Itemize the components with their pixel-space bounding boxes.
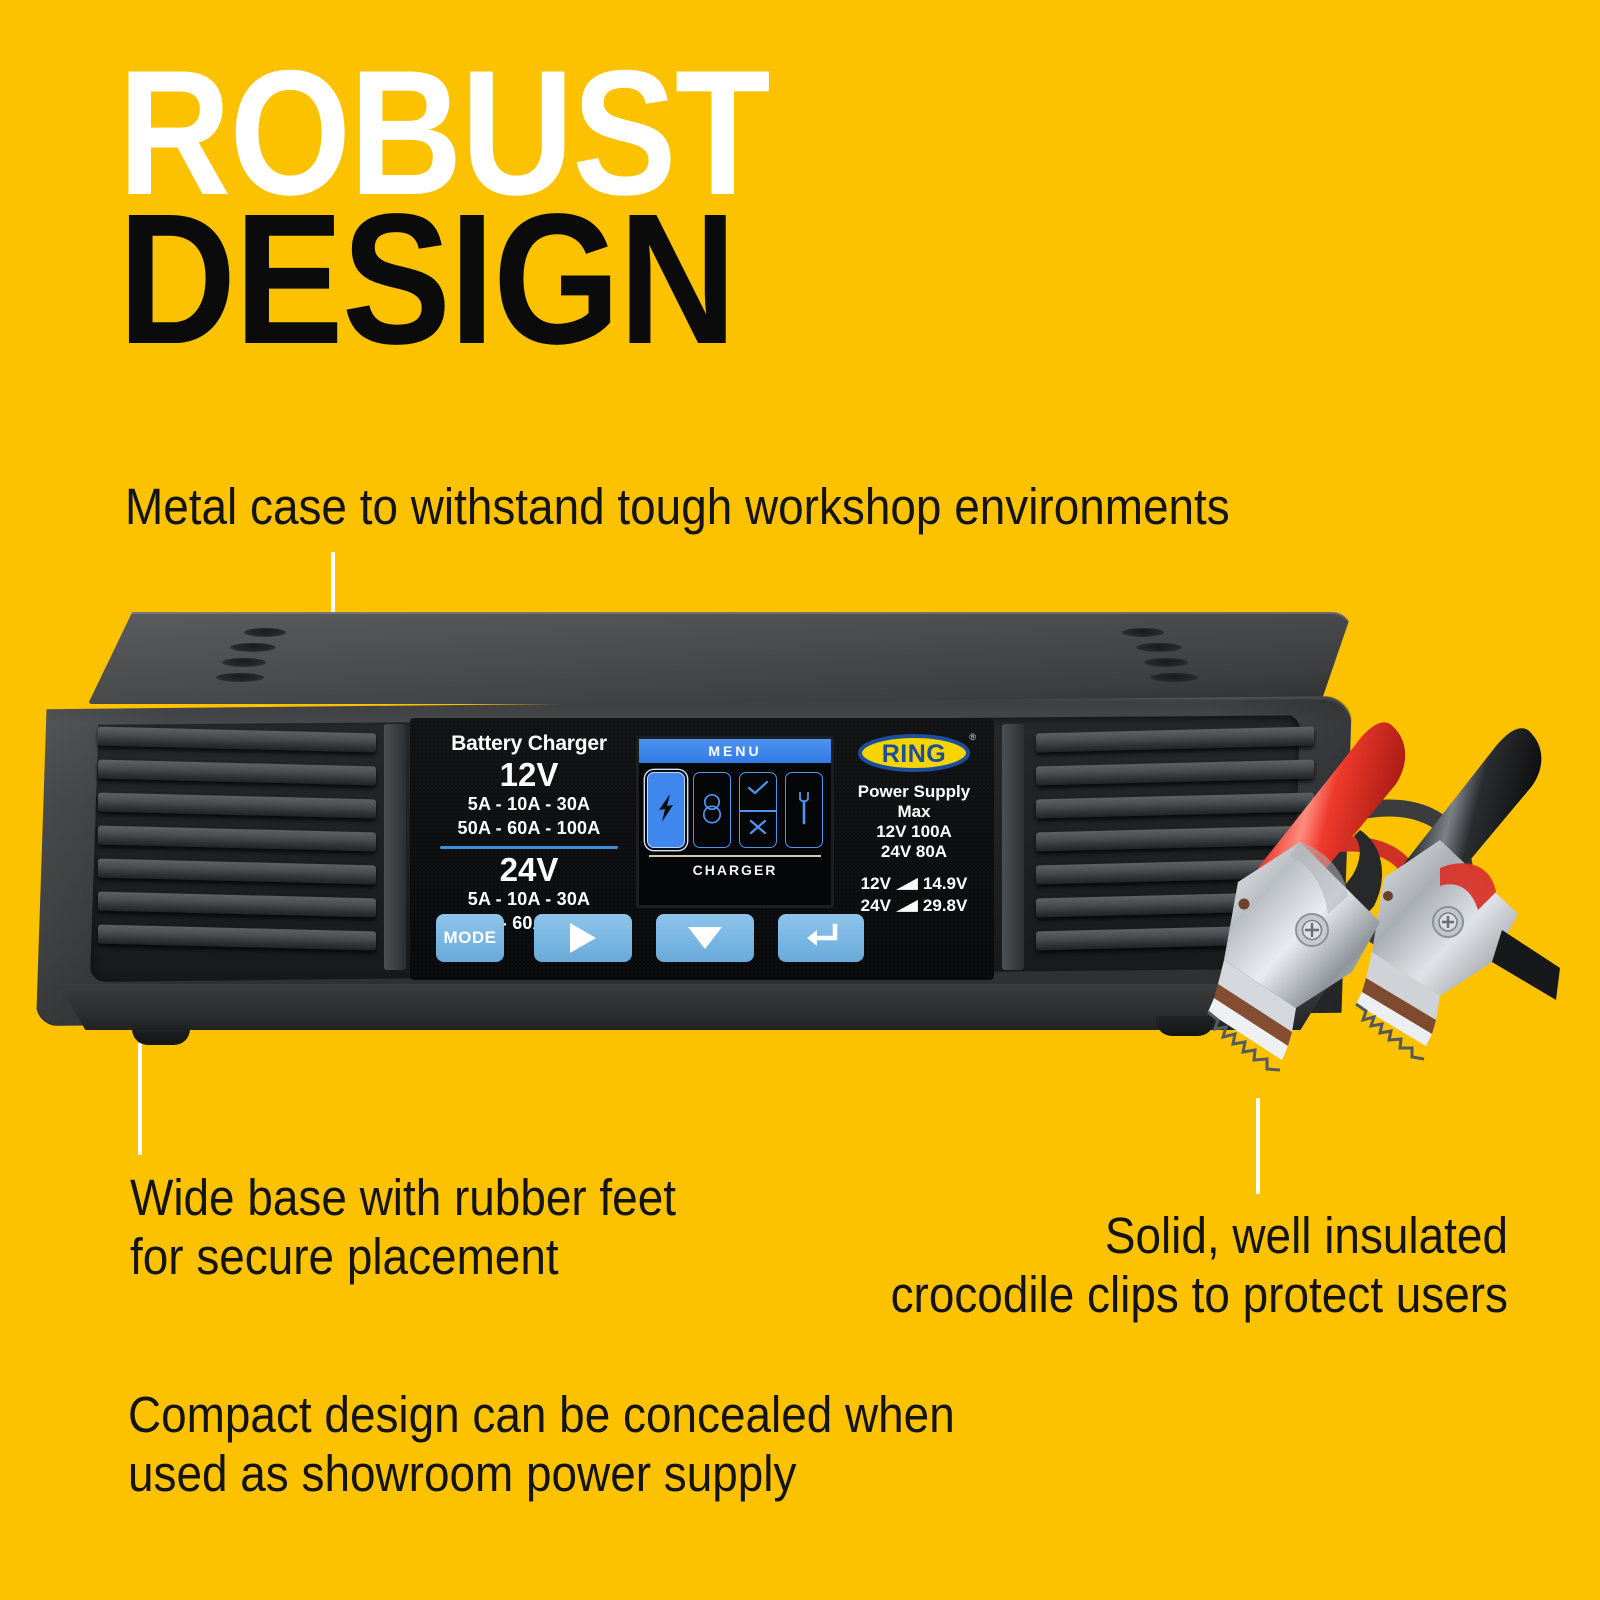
vent-fin	[98, 826, 376, 852]
spec-12v-row-2: 50A - 60A - 100A	[434, 818, 624, 839]
output-24v-label: 24V	[861, 896, 891, 916]
arrow-down-icon	[688, 927, 722, 949]
power-supply-spec-block: RING ® Power Supply Max 12V 100A 24V 80A…	[840, 734, 988, 916]
spec-12v-row-1: 5A - 10A - 30A	[434, 794, 624, 815]
top-vent-slot	[1144, 658, 1188, 667]
down-arrow-button[interactable]	[656, 914, 754, 962]
power-supply-title: Power Supply Max	[840, 782, 988, 822]
crocodile-clips	[1140, 700, 1570, 1100]
top-vent-slot	[1150, 673, 1198, 682]
check-icon	[747, 780, 769, 801]
tile-divider	[740, 810, 776, 812]
power-supply-12v: 12V 100A	[840, 822, 988, 842]
vent-fin	[98, 760, 376, 786]
top-vent-cluster-right	[1078, 628, 1198, 690]
rubber-foot-left	[132, 1025, 190, 1045]
grille-post-left	[384, 724, 406, 970]
spec-voltage-24v: 24V	[434, 853, 624, 886]
lcd-mode-label: CHARGER	[639, 862, 831, 878]
svg-text:RING: RING	[882, 740, 947, 768]
charger-spec-block: Battery Charger 12V 5A - 10A - 30A 50A -…	[434, 732, 624, 934]
vent-grille-left	[98, 730, 376, 966]
top-vent-slot	[222, 658, 266, 667]
red-crocodile-clip	[1208, 722, 1405, 1070]
cross-icon	[749, 819, 767, 840]
spec-24v-row-1: 5A - 10A - 30A	[434, 889, 624, 910]
button-row: MODE	[410, 914, 994, 966]
lcd-tile-row[interactable]	[639, 763, 831, 848]
callout-wide-base: Wide base with rubber feet for secure pl…	[130, 1168, 676, 1286]
leader-line-wide-base	[138, 1043, 142, 1155]
lcd-tile-power-supply[interactable]	[693, 772, 731, 848]
top-vent-slot	[1136, 643, 1182, 652]
wrench-icon	[794, 790, 814, 831]
vent-fin	[98, 793, 376, 819]
power-supply-24v: 24V 80A	[840, 842, 988, 862]
lcd-tile-settings[interactable]	[785, 772, 823, 848]
mode-button[interactable]: MODE	[436, 914, 504, 962]
output-24v-value: 29.8V	[923, 896, 967, 916]
output-row-12v: 12V 14.9V	[840, 874, 988, 894]
lcd-menu-header: MENU	[639, 739, 831, 763]
leader-line-clips	[1256, 1098, 1260, 1194]
top-vent-slot	[216, 673, 264, 682]
lcd-tile-charger[interactable]	[647, 772, 685, 848]
top-vent-slot	[244, 628, 286, 637]
right-arrow-button[interactable]	[534, 914, 632, 962]
spec-title: Battery Charger	[434, 732, 624, 756]
figure-eight-icon	[701, 791, 723, 830]
output-12v-label: 12V	[861, 874, 891, 894]
top-vent-cluster-left	[216, 628, 336, 690]
output-12v-value: 14.9V	[923, 874, 967, 894]
ramp-icon	[896, 878, 918, 890]
lcd-tile-test[interactable]	[739, 772, 777, 848]
output-row-24v: 24V 29.8V	[840, 896, 988, 916]
grille-post-right	[1002, 724, 1024, 970]
ramp-icon	[896, 900, 918, 912]
product-feature-slide: ROBUST DESIGN Metal case to withstand to…	[0, 0, 1600, 1600]
ring-brand-logo: RING ®	[858, 734, 970, 772]
callout-compact-design: Compact design can be concealed when use…	[128, 1385, 955, 1503]
top-vent-slot	[230, 643, 276, 652]
top-vent-slot	[1122, 628, 1164, 637]
arrow-right-icon	[570, 923, 596, 953]
callout-metal-case: Metal case to withstand tough workshop e…	[125, 477, 1230, 536]
lightning-bolt-icon	[656, 792, 676, 829]
page-title: ROBUST DESIGN	[118, 58, 858, 358]
spec-voltage-12v: 12V	[434, 758, 624, 791]
vent-fin	[98, 892, 376, 918]
enter-button[interactable]	[778, 914, 864, 962]
spec-divider	[440, 846, 618, 849]
headline-line-2: DESIGN	[118, 202, 769, 358]
vent-fin	[98, 925, 376, 951]
device-top-deck	[88, 612, 1352, 704]
callout-crocodile-clips: Solid, well insulated crocodile clips to…	[891, 1206, 1508, 1324]
lcd-divider	[649, 855, 821, 857]
lcd-display[interactable]: MENU	[636, 736, 834, 908]
vent-fin	[98, 859, 376, 885]
registered-trademark-icon: ®	[969, 732, 976, 742]
vent-fin	[98, 727, 376, 753]
control-panel: Battery Charger 12V 5A - 10A - 30A 50A -…	[410, 718, 994, 980]
enter-icon	[803, 922, 839, 955]
